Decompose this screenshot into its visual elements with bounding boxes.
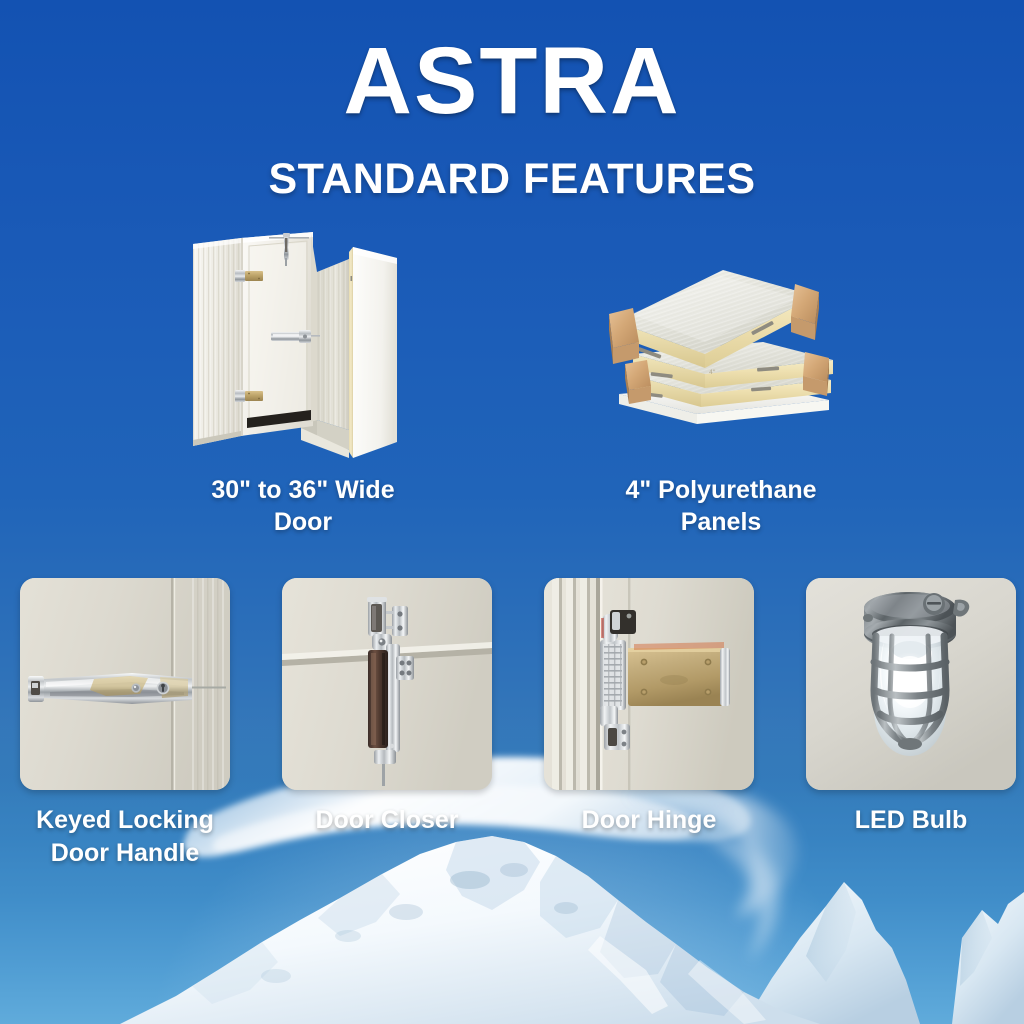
led-bulb-card[interactable] (806, 578, 1016, 790)
label-line-2: Door (274, 508, 332, 536)
svg-text:4": 4" (709, 369, 716, 376)
page-title: ASTRA (0, 34, 1024, 129)
label-line-1: Keyed Locking (36, 806, 214, 834)
feature-label-wide-door: 30" to 36" WideDoor (211, 474, 394, 538)
feature-label-door-closer: Door Closer (315, 804, 458, 837)
walk-in-cooler-photo (183, 214, 423, 464)
top-feature-row: 30" to 36" WideDoor (0, 214, 1024, 538)
feature-wide-door[interactable]: 30" to 36" WideDoor (168, 214, 438, 538)
bottom-hinge-on-cooler (235, 390, 263, 402)
feature-door-closer[interactable]: Door Closer (282, 578, 492, 869)
cooler-right-panel (349, 247, 397, 458)
poster-canvas: ASTRA STANDARD FEATURES (0, 0, 1024, 1024)
bottom-feature-row: Keyed LockingDoor Handle (20, 578, 1004, 869)
feature-label-panels: 4" PolyurethanePanels (625, 474, 816, 538)
door-closer-card[interactable] (282, 578, 492, 790)
top-hinge-on-cooler (235, 270, 263, 282)
feature-label-door-hinge: Door Hinge (582, 804, 717, 837)
hinge-knurl (603, 644, 623, 706)
stacked-panels-icon: 4" (601, 214, 841, 464)
label-line-1: 30" to 36" Wide (211, 476, 394, 504)
feature-led-bulb[interactable]: LED Bulb (806, 578, 1016, 869)
feature-panels[interactable]: 4" (586, 214, 856, 538)
door-hinge-icon (544, 578, 754, 790)
walk-in-cooler-icon (183, 214, 423, 464)
handle-lever (44, 673, 192, 704)
feature-label-keyed-handle: Keyed LockingDoor Handle (0, 804, 250, 869)
keyed-handle-card[interactable] (20, 578, 230, 790)
cage-bottom-boss (898, 738, 922, 750)
door-closer-icon (282, 578, 492, 790)
led-vapor-proof-bulb-icon (806, 578, 1016, 790)
cooler-front-wall (193, 238, 241, 446)
insulated-panels-photo: 4" (601, 214, 841, 464)
strike-plate (28, 676, 44, 702)
hinge-brass-plate (628, 642, 730, 706)
keyed-locking-door-handle-icon (20, 578, 230, 790)
feature-keyed-handle[interactable]: Keyed LockingDoor Handle (20, 578, 230, 869)
feature-door-hinge[interactable]: Door Hinge (544, 578, 754, 869)
feature-label-led-bulb: LED Bulb (855, 804, 968, 837)
page-subtitle: STANDARD FEATURES (0, 158, 1024, 201)
label-line-2: Panels (681, 508, 762, 536)
label-line-1: 4" Polyurethane (625, 476, 816, 504)
door-hinge-card[interactable] (544, 578, 754, 790)
label-line-2: Door Handle (51, 839, 200, 867)
